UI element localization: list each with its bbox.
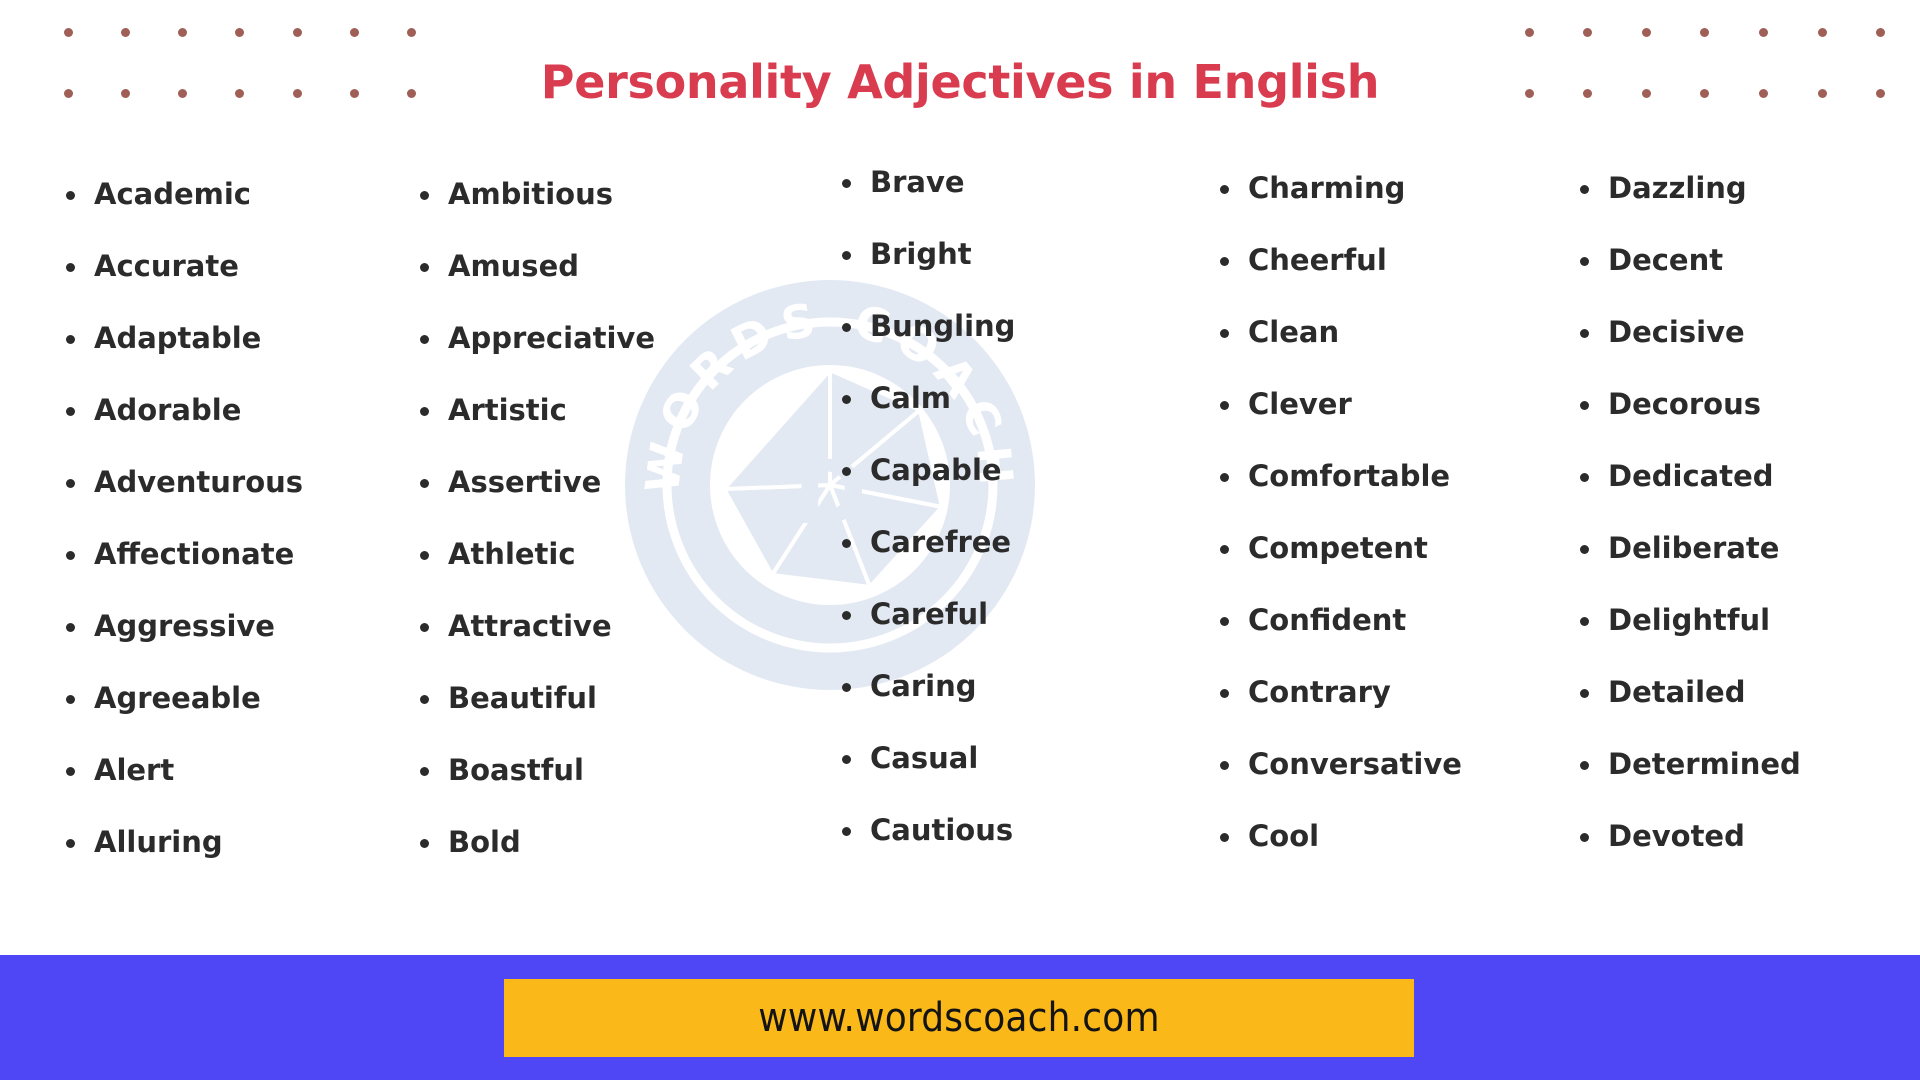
decorative-dot — [1525, 28, 1534, 37]
website-url-box[interactable]: www.wordscoach.com — [504, 979, 1414, 1057]
adjective-item: Bright — [834, 240, 1190, 269]
header: Personality Adjectives in English — [0, 0, 1920, 150]
adjective-item: Conversative — [1212, 750, 1550, 779]
adjective-item: Decent — [1572, 246, 1920, 275]
adjective-column-2: AmbitiousAmusedAppreciativeArtisticAsser… — [390, 168, 800, 900]
adjective-item: Deliberate — [1572, 534, 1920, 563]
decorative-dot — [1818, 28, 1827, 37]
adjective-column-5: DazzlingDecentDecisiveDecorousDedicatedD… — [1550, 168, 1920, 900]
adjective-item: Delightful — [1572, 606, 1920, 635]
decorative-dot — [1525, 89, 1534, 98]
adjective-item: Ambitious — [412, 180, 800, 209]
word-list-4: CharmingCheerfulCleanCleverComfortableCo… — [1212, 174, 1550, 851]
adjective-item: Decisive — [1572, 318, 1920, 347]
adjective-item: Confident — [1212, 606, 1550, 635]
word-list-1: AcademicAccurateAdaptableAdorableAdventu… — [58, 180, 390, 857]
adjective-item: Aggressive — [58, 612, 390, 641]
adjective-item: Dedicated — [1572, 462, 1920, 491]
decorative-dot — [1818, 89, 1827, 98]
adjective-item: Adorable — [58, 396, 390, 425]
adjective-item: Artistic — [412, 396, 800, 425]
adjective-item: Casual — [834, 744, 1190, 773]
adjective-item: Determined — [1572, 750, 1920, 779]
adjective-item: Attractive — [412, 612, 800, 641]
adjective-item: Cheerful — [1212, 246, 1550, 275]
adjective-item: Competent — [1212, 534, 1550, 563]
decorative-dot — [1876, 89, 1885, 98]
adjective-item: Brave — [834, 168, 1190, 197]
adjective-item: Decorous — [1572, 390, 1920, 419]
adjective-item: Assertive — [412, 468, 800, 497]
adjective-item: Adaptable — [58, 324, 390, 353]
footer-bar: www.wordscoach.com — [0, 955, 1920, 1080]
adjective-item: Bungling — [834, 312, 1190, 341]
adjective-item: Amused — [412, 252, 800, 281]
word-list-2: AmbitiousAmusedAppreciativeArtisticAsser… — [412, 180, 800, 857]
decorative-dot — [407, 28, 416, 37]
decorative-dot — [235, 28, 244, 37]
adjective-column-1: AcademicAccurateAdaptableAdorableAdventu… — [0, 168, 390, 900]
decorative-dot — [1700, 89, 1709, 98]
adjective-item: Clean — [1212, 318, 1550, 347]
adjective-item: Appreciative — [412, 324, 800, 353]
decorative-dot — [121, 28, 130, 37]
adjective-item: Calm — [834, 384, 1190, 413]
adjective-item: Cool — [1212, 822, 1550, 851]
adjective-item: Capable — [834, 456, 1190, 485]
adjective-item: Devoted — [1572, 822, 1920, 851]
adjective-item: Cautious — [834, 816, 1190, 845]
adjective-column-4: CharmingCheerfulCleanCleverComfortableCo… — [1190, 168, 1550, 900]
adjective-item: Adventurous — [58, 468, 390, 497]
word-list-5: DazzlingDecentDecisiveDecorousDedicatedD… — [1572, 174, 1920, 851]
adjective-column-3: BraveBrightBunglingCalmCapableCarefreeCa… — [800, 168, 1190, 900]
adjective-item: Academic — [58, 180, 390, 209]
decorative-dot — [64, 28, 73, 37]
adjective-item: Athletic — [412, 540, 800, 569]
adjective-item: Clever — [1212, 390, 1550, 419]
decorative-dot — [1700, 28, 1709, 37]
adjective-item: Detailed — [1572, 678, 1920, 707]
adjective-item: Bold — [412, 828, 800, 857]
adjective-item: Affectionate — [58, 540, 390, 569]
adjective-item: Agreeable — [58, 684, 390, 713]
adjective-item: Contrary — [1212, 678, 1550, 707]
decorative-dot — [1583, 89, 1592, 98]
decorative-dot — [1876, 28, 1885, 37]
adjective-item: Boastful — [412, 756, 800, 785]
decorative-dot — [1583, 28, 1592, 37]
adjective-item: Carefree — [834, 528, 1190, 557]
decorative-dot — [1642, 89, 1651, 98]
adjective-item: Dazzling — [1572, 174, 1920, 203]
adjective-item: Caring — [834, 672, 1190, 701]
decorative-dot — [178, 28, 187, 37]
decorative-dot — [293, 28, 302, 37]
website-url-text: www.wordscoach.com — [758, 995, 1160, 1041]
adjective-item: Accurate — [58, 252, 390, 281]
decorative-dot — [350, 28, 359, 37]
adjective-item: Alluring — [58, 828, 390, 857]
adjective-item: Charming — [1212, 174, 1550, 203]
adjective-item: Comfortable — [1212, 462, 1550, 491]
adjective-item: Alert — [58, 756, 390, 785]
adjective-item: Careful — [834, 600, 1190, 629]
word-list-3: BraveBrightBunglingCalmCapableCarefreeCa… — [834, 168, 1190, 845]
decorative-dot — [1759, 28, 1768, 37]
decorative-dot — [1642, 28, 1651, 37]
decorative-dot-grid-right — [1500, 28, 1910, 98]
decorative-dot — [1759, 89, 1768, 98]
adjective-item: Beautiful — [412, 684, 800, 713]
adjective-columns: AcademicAccurateAdaptableAdorableAdventu… — [0, 168, 1920, 900]
